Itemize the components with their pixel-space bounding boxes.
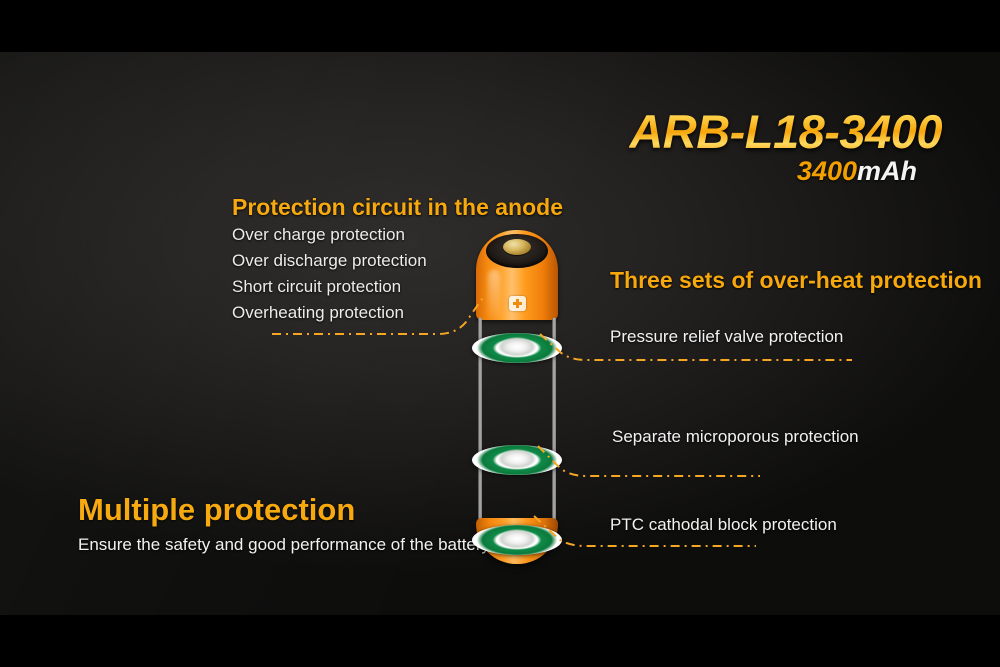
overheat-heading: Three sets of over-heat protection [610,267,982,294]
content-canvas: ARB-L18-3400 3400mAh Protection circuit … [0,52,1000,615]
capacity-unit: mAh [857,156,917,186]
infographic-stage: ARB-L18-3400 3400mAh Protection circuit … [0,0,1000,667]
multiple-protection-heading: Multiple protection [78,492,355,528]
plus-icon [509,296,526,311]
anode-heading: Protection circuit in the anode [232,194,563,221]
battery-positive-button-terminal [503,239,531,255]
leader-line-ptc-cathodal [528,514,758,552]
letterbox-bar-top [0,0,1000,52]
list-item: Over discharge protection [232,248,427,274]
list-item: Over charge protection [232,222,427,248]
product-title: ARB-L18-3400 [629,104,942,159]
letterbox-bar-bottom [0,615,1000,667]
product-capacity: 3400mAh [797,156,917,187]
leader-line-pressure-relief [534,332,854,368]
leader-line-separate-microporous [532,444,762,484]
multiple-protection-subtitle: Ensure the safety and good performance o… [78,535,494,555]
leader-line-anode [270,288,500,340]
capacity-value: 3400 [797,156,857,186]
